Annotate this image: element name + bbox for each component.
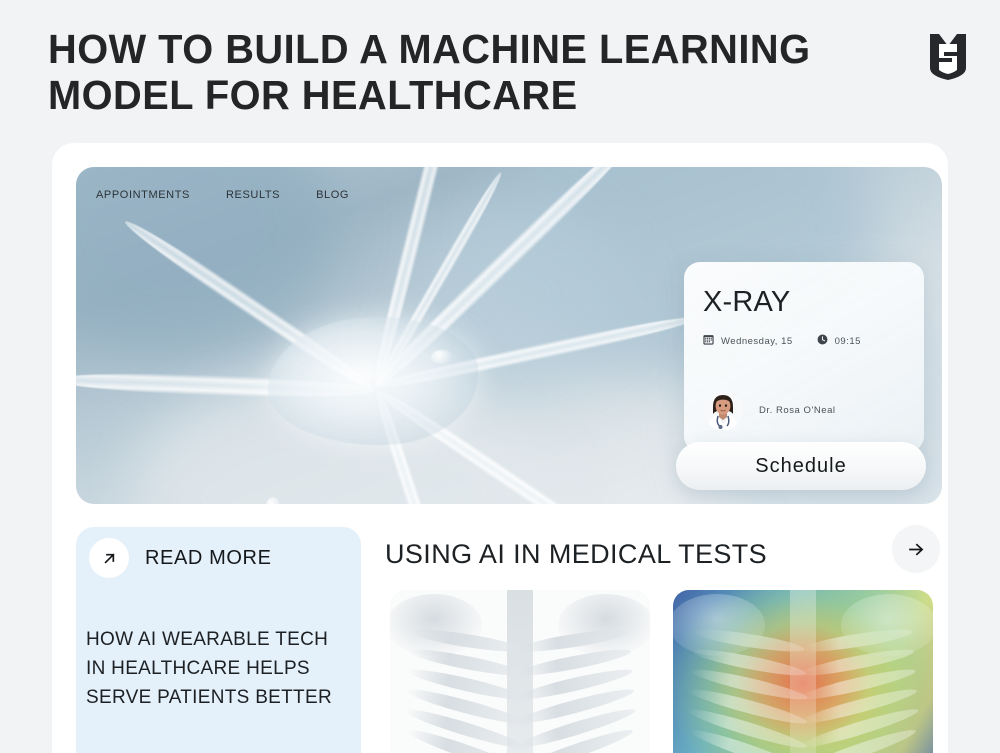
schedule-button[interactable]: Schedule xyxy=(676,442,926,490)
page-header: How to build a machine learning model fo… xyxy=(0,0,1000,143)
hero-banner: Appointments Results Blog X-RAY xyxy=(76,167,942,504)
hero-nav[interactable]: Appointments Results Blog xyxy=(96,189,349,201)
appointment-card[interactable]: X-RAY xyxy=(684,262,924,452)
read-more-article-title: How AI wearable tech in healthcare helps… xyxy=(86,625,351,712)
appointment-time: 09:15 xyxy=(817,334,861,348)
appointment-date-text: Wednesday, 15 xyxy=(721,336,793,347)
read-more-label: Read more xyxy=(145,547,272,570)
appointment-time-text: 09:15 xyxy=(835,336,861,347)
calendar-icon xyxy=(703,334,714,348)
read-more-card[interactable]: Read more How AI wearable tech in health… xyxy=(76,527,361,753)
arrow-up-right-icon[interactable] xyxy=(89,538,129,578)
clock-icon xyxy=(817,334,828,348)
doctor-row: Dr. Rosa O'Neal xyxy=(703,390,836,430)
appointment-type: X-RAY xyxy=(703,286,790,319)
page-title: How to build a machine learning model fo… xyxy=(48,26,824,118)
doctor-avatar xyxy=(703,390,743,430)
nav-item-results[interactable]: Results xyxy=(226,189,280,201)
chest-xray-heatmap[interactable] xyxy=(673,590,933,753)
read-more-header[interactable]: Read more xyxy=(89,538,272,578)
chest-xray-grayscale[interactable] xyxy=(390,590,650,753)
doctor-name: Dr. Rosa O'Neal xyxy=(759,405,836,416)
nav-item-blog[interactable]: Blog xyxy=(316,189,349,201)
app-shell: Appointments Results Blog X-RAY xyxy=(52,143,948,753)
arrow-right-icon[interactable] xyxy=(892,525,940,573)
nav-item-appointments[interactable]: Appointments xyxy=(96,189,190,201)
appointment-date: Wednesday, 15 xyxy=(703,334,793,348)
ms-monogram-logo[interactable] xyxy=(926,30,970,82)
appointment-meta: Wednesday, 15 09:15 xyxy=(703,334,861,348)
section-title-medical-tests: Using AI in medical tests xyxy=(385,539,767,570)
